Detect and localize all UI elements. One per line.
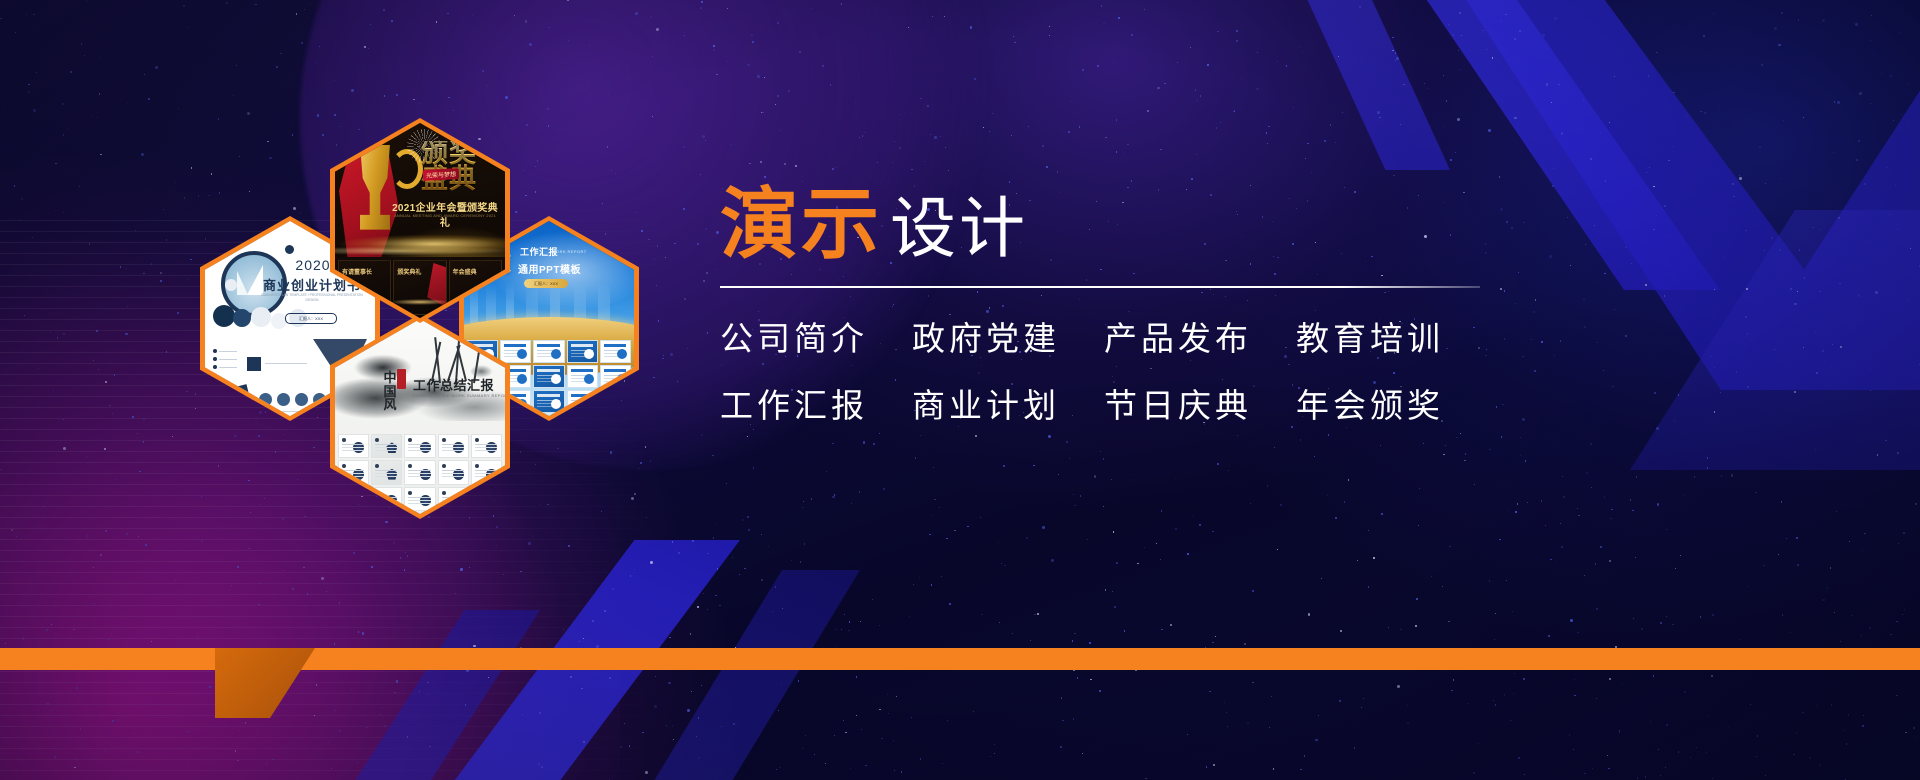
- slide-thumb: [438, 460, 469, 484]
- headline-divider: [720, 286, 1480, 288]
- category-tag-list: 公司简介 政府党建 产品发布 教育培训 工作汇报 商业计划 节日庆典 年会颁奖: [720, 322, 1480, 422]
- slide-thumb: [500, 340, 531, 363]
- slide-thumb: [438, 487, 469, 511]
- slide-thumb: [338, 487, 369, 511]
- ink-title: 工作总结汇报: [413, 375, 494, 394]
- headline-secondary: 设计: [890, 196, 1028, 264]
- plan-decor-dot: [251, 307, 271, 327]
- slide-thumb: [438, 434, 469, 458]
- category-tag[interactable]: 工作汇报: [720, 389, 868, 422]
- slide-thumb: [471, 487, 502, 511]
- blue-presenter-pill: 汇报人：XXX: [524, 279, 568, 288]
- plan-rule: [219, 367, 237, 368]
- slide-thumb: [338, 460, 369, 484]
- slide-thumb: 颁奖典礼: [393, 260, 446, 315]
- plan-avatar: [277, 393, 290, 406]
- plan-decor-dot: [233, 309, 251, 327]
- category-tag-row: 公司简介 政府党建 产品发布 教育培训: [720, 322, 1480, 355]
- award-hono-label: HONO: [474, 145, 499, 152]
- category-tag[interactable]: 教育培训: [1296, 322, 1444, 355]
- category-tag[interactable]: 政府党建: [912, 322, 1060, 355]
- slide-thumb: [533, 340, 564, 363]
- plan-decor-dot: [285, 245, 294, 254]
- plan-rule: [219, 351, 237, 352]
- award-badge: 光荣与梦想: [423, 168, 460, 181]
- slide-thumb: [471, 434, 502, 458]
- plan-avatar: [295, 393, 308, 406]
- blue-english-label: WORK REPORT: [552, 249, 587, 254]
- hexagon-thumbnail-cluster: 2020 商业创业计划书 BUSINESS PLAN TEMPLATE / PR…: [0, 0, 700, 600]
- plan-rule: [219, 359, 237, 360]
- slide-thumb-label: 年会盛典: [453, 267, 477, 276]
- award-english-subtitle: ANNUAL MEETING AND AWARD CEREMONY 2021: [389, 213, 501, 218]
- plan-sailboat-icon-2: [237, 271, 248, 295]
- plan-english-subtitle: BUSINESS PLAN TEMPLATE / PROFESSIONAL PR…: [259, 293, 365, 303]
- plan-block: [221, 384, 251, 408]
- slide-thumb: [533, 365, 564, 388]
- slide-thumb: [600, 340, 631, 363]
- headline: 演示 设计: [720, 186, 1480, 264]
- slide-thumb: [471, 460, 502, 484]
- headline-primary: 演示: [720, 186, 882, 264]
- category-tag[interactable]: 产品发布: [1104, 322, 1252, 355]
- slide-thumb: [371, 434, 402, 458]
- plan-square-decor: [247, 357, 261, 371]
- plan-decor-dot: [225, 279, 237, 291]
- slide-thumb: [567, 390, 598, 413]
- category-tag[interactable]: 公司简介: [720, 322, 868, 355]
- slide-thumb-label: 有请董事长: [342, 267, 372, 276]
- category-tag[interactable]: 商业计划: [912, 389, 1060, 422]
- plan-presenter-label: 汇报人：XXX: [286, 314, 336, 323]
- plan-rule: [257, 411, 333, 412]
- award-title: 颁奖盛典: [399, 141, 499, 193]
- category-tag[interactable]: 年会颁奖: [1296, 389, 1444, 422]
- blue-presenter-label: 汇报人：XXX: [524, 279, 568, 288]
- slide-thumb: [533, 390, 564, 413]
- plan-bullet: [213, 365, 217, 369]
- slide-thumb: [600, 365, 631, 388]
- slide-thumb: [567, 365, 598, 388]
- plan-rule: [265, 363, 307, 364]
- plan-avatar: [313, 393, 326, 406]
- plan-presenter-pill: 汇报人：XXX: [285, 313, 337, 324]
- plan-bullet: [213, 349, 217, 353]
- slide-thumb: [338, 434, 369, 458]
- ink-slide-grid: [335, 431, 505, 514]
- plan-decor-dot: [213, 305, 235, 327]
- category-tag-row: 工作汇报 商业计划 节日庆典 年会颁奖: [720, 389, 1480, 422]
- ink-english-subtitle: CHINESE STYLE WORK SUMMARY REPORT TEMPLA…: [413, 393, 505, 398]
- ink-chinese-style-mark: 中国风: [379, 371, 401, 412]
- slide-thumb: [404, 460, 435, 484]
- slide-thumb-label: 颁奖典礼: [397, 267, 421, 276]
- award-gold-wave: [335, 227, 505, 261]
- slide-thumb: [600, 390, 631, 413]
- blue-template-label: 通用PPT模板: [518, 261, 581, 276]
- slide-thumb: [404, 487, 435, 511]
- slide-thumb: [371, 487, 402, 511]
- plan-avatar: [259, 393, 272, 406]
- slide-thumb: [371, 460, 402, 484]
- promo-banner: 2020 商业创业计划书 BUSINESS PLAN TEMPLATE / PR…: [0, 0, 1920, 780]
- headline-block: 演示 设计 公司简介 政府党建 产品发布 教育培训 工作汇报 商业计划 节日庆典…: [720, 186, 1480, 422]
- slide-thumb: [404, 434, 435, 458]
- category-tag[interactable]: 节日庆典: [1104, 389, 1252, 422]
- slide-thumb: [567, 340, 598, 363]
- plan-bullet: [213, 357, 217, 361]
